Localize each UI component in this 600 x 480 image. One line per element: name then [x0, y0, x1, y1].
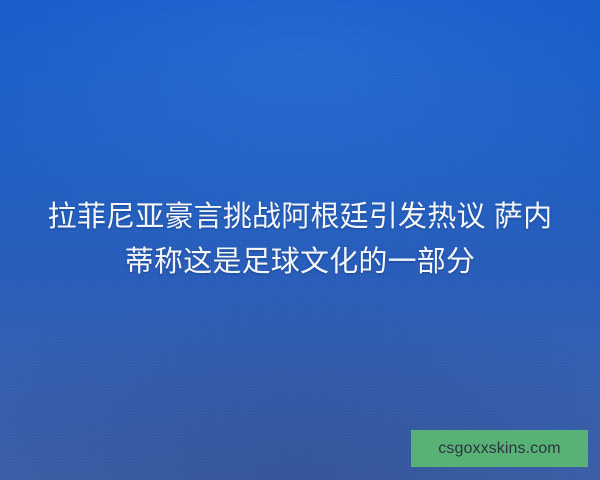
watermark-badge: csgoxxskins.com	[411, 430, 588, 467]
watermark-label: csgoxxskins.com	[438, 441, 560, 457]
background-sheen	[0, 0, 600, 480]
news-banner: 拉菲尼亚豪言挑战阿根廷引发热议 萨内蒂称这是足球文化的一部分 csgoxxski…	[0, 0, 600, 480]
